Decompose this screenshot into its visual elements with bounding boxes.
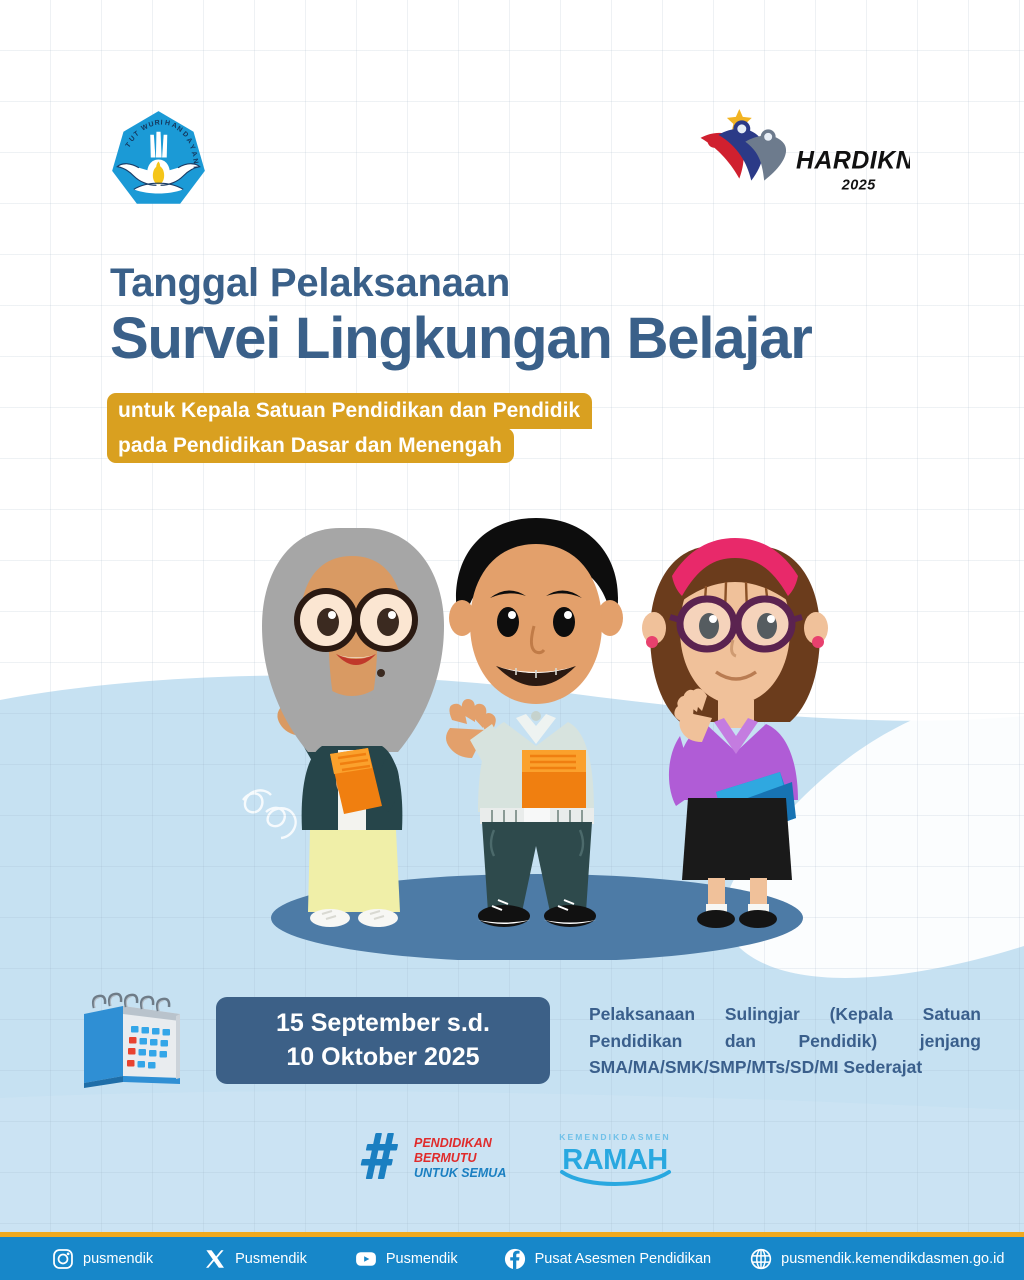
kemendikdasmen-ramah-logo: KEMENDIKDASMEN RAMAH: [540, 1126, 690, 1188]
footer-item-instagram[interactable]: pusmendik: [52, 1248, 153, 1270]
globe-icon[interactable]: [750, 1248, 772, 1270]
footer-item-facebook[interactable]: Pusat Asesmen Pendidikan: [504, 1248, 712, 1270]
calendar-icon: [73, 988, 191, 1088]
hardiknas-logo-icon: HARDIKNAS 2025: [688, 105, 910, 197]
poster-title-block: Tanggal Pelaksanaan Survei Lingkungan Be…: [110, 262, 812, 372]
footer-item-x[interactable]: Pusmendik: [204, 1248, 307, 1270]
footer-label-youtube: Pusmendik: [386, 1251, 458, 1267]
pbus-line1: PENDIDIKAN: [414, 1136, 493, 1150]
x-twitter-icon[interactable]: [204, 1248, 226, 1270]
footer-label-website: pusmendik.kemendikdasmen.go.id: [781, 1251, 1004, 1267]
tut-wuri-handayani-logo-icon: T U T W U R I H A N D A Y A N I: [107, 108, 210, 211]
date-line-2: 10 Oktober 2025: [286, 1041, 479, 1074]
svg-text:R: R: [154, 119, 160, 126]
footer-label-instagram: pusmendik: [83, 1251, 153, 1267]
footer-item-youtube[interactable]: Pusmendik: [355, 1248, 458, 1270]
footer-item-website[interactable]: pusmendik.kemendikdasmen.go.id: [750, 1248, 1004, 1270]
footer-label-x: Pusmendik: [235, 1251, 307, 1267]
logo-motto-text: [157, 108, 159, 110]
date-line-1: 15 September s.d.: [276, 1007, 490, 1040]
figure-purple-glasses-teacher: [642, 538, 828, 928]
ramah-main-text: RAMAH: [562, 1144, 667, 1176]
social-footer-bar: pusmendik Pusmendik Pusmendik Pusat Ases…: [0, 1232, 1024, 1280]
youtube-icon[interactable]: [355, 1248, 377, 1270]
pbus-line3: UNTUK SEMUA: [414, 1166, 506, 1180]
hardiknas-wordmark: HARDIKNAS: [796, 147, 910, 175]
figure-hijab-teacher: [262, 528, 444, 927]
page-title-line1: Tanggal Pelaksanaan: [110, 262, 812, 304]
ramah-top-text: KEMENDIKDASMEN: [559, 1132, 671, 1142]
pendidikan-bermutu-untuk-semua-logo: PENDIDIKAN BERMUTU UNTUK SEMUA: [358, 1126, 528, 1188]
schedule-description: Pelaksanaan Sulingjar (Kepala Satuan Pen…: [589, 1001, 981, 1081]
footer-label-facebook: Pusat Asesmen Pendidikan: [535, 1251, 712, 1267]
hardiknas-year: 2025: [841, 178, 877, 194]
figure-male-teacher: [446, 518, 623, 927]
date-badge: 15 September s.d. 10 Oktober 2025: [216, 997, 550, 1084]
pbus-line2: BERMUTU: [414, 1151, 477, 1165]
subtitle-line2: pada Pendidikan Dasar dan Menengah: [107, 428, 514, 464]
subtitle-badge: untuk Kepala Satuan Pendidikan dan Pendi…: [107, 393, 592, 463]
page-title-line2: Survei Lingkungan Belajar: [110, 307, 812, 372]
instagram-icon[interactable]: [52, 1248, 74, 1270]
facebook-icon[interactable]: [504, 1248, 526, 1270]
teachers-illustration: [0, 500, 1024, 960]
poster-root: T U T W U R I H A N D A Y A N I: [0, 0, 1024, 1280]
subtitle-line1: untuk Kepala Satuan Pendidikan dan Pendi…: [107, 393, 592, 429]
